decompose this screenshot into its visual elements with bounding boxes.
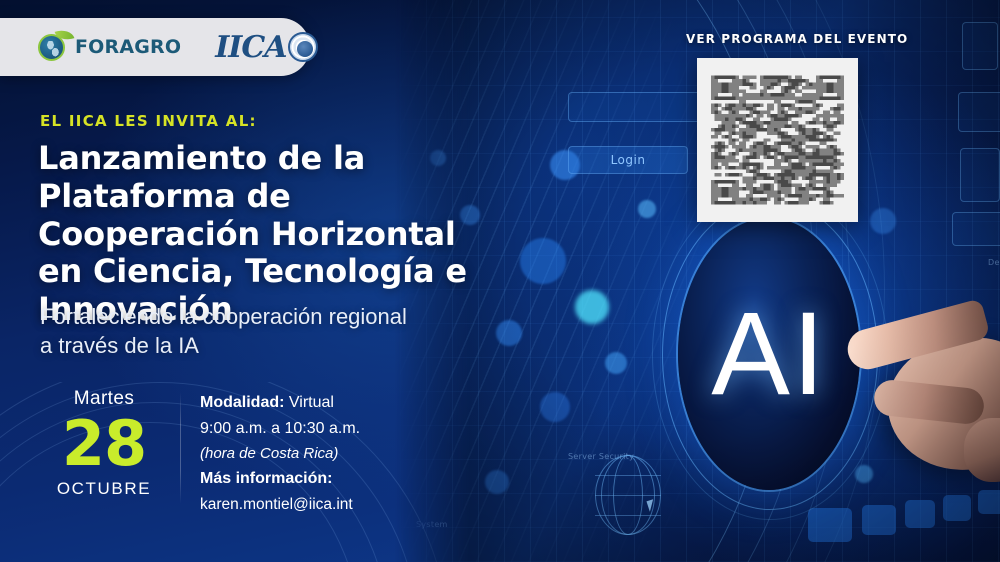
ai-orb-label: AI <box>678 218 860 490</box>
page-title: Lanzamiento de la Plataforma de Cooperac… <box>38 140 508 329</box>
ui-block <box>905 500 935 528</box>
device-outline <box>958 92 1000 132</box>
device-micro-label: Devices <box>988 258 1000 267</box>
device-outline <box>952 212 1000 246</box>
qr-label: VER PROGRAMA DEL EVENTO <box>686 32 908 46</box>
device-outline <box>962 22 998 70</box>
date-day-number: 28 <box>40 412 168 475</box>
event-poster: Login Devices Server Security System A <box>0 0 1000 562</box>
iica-wordmark: IICA <box>215 30 286 65</box>
subtitle-text: Fortaleciendo la cooperación regional a … <box>40 303 420 360</box>
ui-block <box>978 490 1000 514</box>
bokeh-light <box>520 238 566 284</box>
time-row: 9:00 a.m. a 10:30 a.m. <box>200 416 450 442</box>
globe-latitude <box>595 475 661 476</box>
modality-row: Modalidad: Virtual <box>200 390 450 416</box>
timezone-row: (hora de Costa Rica) <box>200 442 450 466</box>
event-date-block: Martes 28 OCTUBRE <box>40 388 168 499</box>
bokeh-light <box>870 208 896 234</box>
date-month: OCTUBRE <box>40 479 168 499</box>
eyebrow-text: EL IICA LES INVITA AL: <box>40 112 257 130</box>
device-outline <box>960 148 1000 202</box>
modality-label: Modalidad: <box>200 394 284 411</box>
globe-leaf-icon <box>38 30 72 64</box>
wireframe-globe-icon <box>595 455 661 535</box>
modality-value: Virtual <box>289 394 334 411</box>
login-chip: Login <box>568 146 688 174</box>
foragro-wordmark: FORAGRO <box>75 36 181 58</box>
more-info-row: Más información: <box>200 466 450 492</box>
qr-code-icon[interactable] <box>711 72 844 208</box>
date-divider <box>180 392 181 504</box>
globe-latitude <box>595 515 661 516</box>
logo-bar: FORAGRO IICA <box>0 18 310 76</box>
ui-block <box>862 505 896 535</box>
ui-block <box>943 495 971 521</box>
iica-seal-icon <box>288 32 318 62</box>
bokeh-light <box>605 352 627 374</box>
qr-code-card[interactable] <box>697 58 858 222</box>
bokeh-light <box>575 290 609 324</box>
globe-latitude <box>595 495 661 496</box>
event-details-block: Modalidad: Virtual 9:00 a.m. a 10:30 a.m… <box>200 390 450 517</box>
contact-email[interactable]: karen.montiel@iica.int <box>200 492 450 517</box>
foragro-logo: FORAGRO <box>38 30 181 64</box>
pointing-hand-icon <box>852 300 1000 490</box>
bokeh-light <box>540 392 570 422</box>
bokeh-light <box>638 200 656 218</box>
bokeh-light <box>485 470 509 494</box>
iica-logo: IICA <box>215 30 318 65</box>
ui-block <box>808 508 852 542</box>
more-info-label: Más información: <box>200 470 332 487</box>
